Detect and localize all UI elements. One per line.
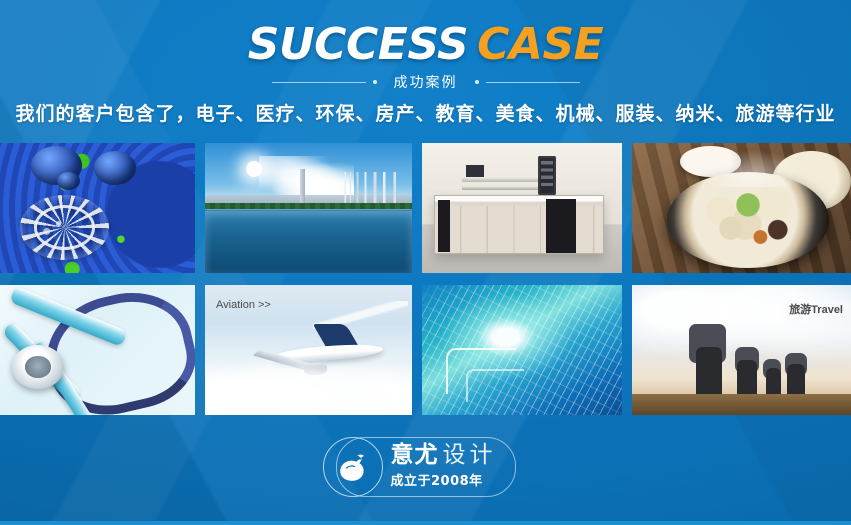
- nanotech-image: [0, 143, 195, 273]
- hiker-shape: [766, 368, 781, 397]
- logo-brand-bold: 意尤: [391, 442, 439, 468]
- case-tile-food[interactable]: [632, 143, 851, 273]
- tagline: 我们的客户包含了，电子、医疗、环保、房产、教育、美食、机械、服装、纳米、旅游等行…: [0, 99, 851, 126]
- circuit-trace-shape: [466, 369, 524, 402]
- hiker-shape: [787, 364, 805, 397]
- case-tile-laboratory[interactable]: [422, 143, 622, 273]
- success-case-banner: SUCCESSCASE 成功案例 我们的客户包含了，电子、医疗、环保、房产、教育…: [0, 0, 851, 525]
- aviation-image: Aviation >>: [205, 285, 412, 415]
- divider-dot-right: [475, 80, 479, 84]
- bottom-accent-strip: [0, 521, 851, 525]
- smokestack-shape: [300, 169, 305, 204]
- electronics-image: [422, 285, 622, 415]
- bird-icon: [323, 437, 383, 497]
- title-case: CASE: [477, 19, 603, 70]
- steam-shape: [698, 148, 808, 187]
- lab-bench-shape: [434, 195, 604, 254]
- aviation-caption: Aviation >>: [216, 299, 271, 311]
- treeline-shape: [205, 203, 412, 210]
- laboratory-image: [422, 143, 622, 273]
- case-tile-travel[interactable]: 旅游Travel: [632, 285, 851, 415]
- case-tile-electronics[interactable]: [422, 285, 622, 415]
- title-success: SUCCESS: [248, 19, 468, 70]
- medical-image: [0, 285, 195, 415]
- logo-brand-light: 设计: [443, 442, 497, 468]
- food-image: [632, 143, 851, 273]
- fullerene-molecule-shape: [20, 195, 110, 260]
- divider-dot-left: [373, 80, 377, 84]
- control-panel-shape: [538, 156, 556, 195]
- company-logo[interactable]: 意尤设计 成立于2008年: [336, 437, 516, 497]
- hiker-shape: [737, 360, 757, 396]
- case-gallery: Aviation >> 旅游Travel: [0, 143, 851, 415]
- case-tile-medical[interactable]: [0, 285, 195, 415]
- water-shape: [205, 211, 412, 273]
- clouds-shape: [205, 353, 412, 415]
- case-tile-nanotech[interactable]: [0, 143, 195, 273]
- case-tile-environmental[interactable]: [205, 143, 412, 273]
- chestpiece-shape: [12, 345, 65, 389]
- logo-established: 成立于2008年: [391, 470, 497, 489]
- environmental-image: [205, 143, 412, 273]
- banner-header: SUCCESSCASE 成功案例 我们的客户包含了，电子、医疗、环保、房产、教育…: [0, 0, 851, 135]
- divider-line-right: [486, 82, 580, 83]
- case-tile-aviation[interactable]: Aviation >>: [205, 285, 412, 415]
- travel-caption: 旅游Travel: [789, 301, 843, 317]
- logo-text-block: 意尤设计 成立于2008年: [391, 442, 497, 489]
- subtitle-chinese: 成功案例: [384, 72, 468, 92]
- travel-image: 旅游Travel: [632, 285, 851, 415]
- subtitle-divider-row: 成功案例: [0, 72, 851, 92]
- page-title: SUCCESSCASE: [0, 23, 851, 67]
- hiker-shape: [696, 347, 722, 396]
- divider-line-left: [272, 82, 366, 83]
